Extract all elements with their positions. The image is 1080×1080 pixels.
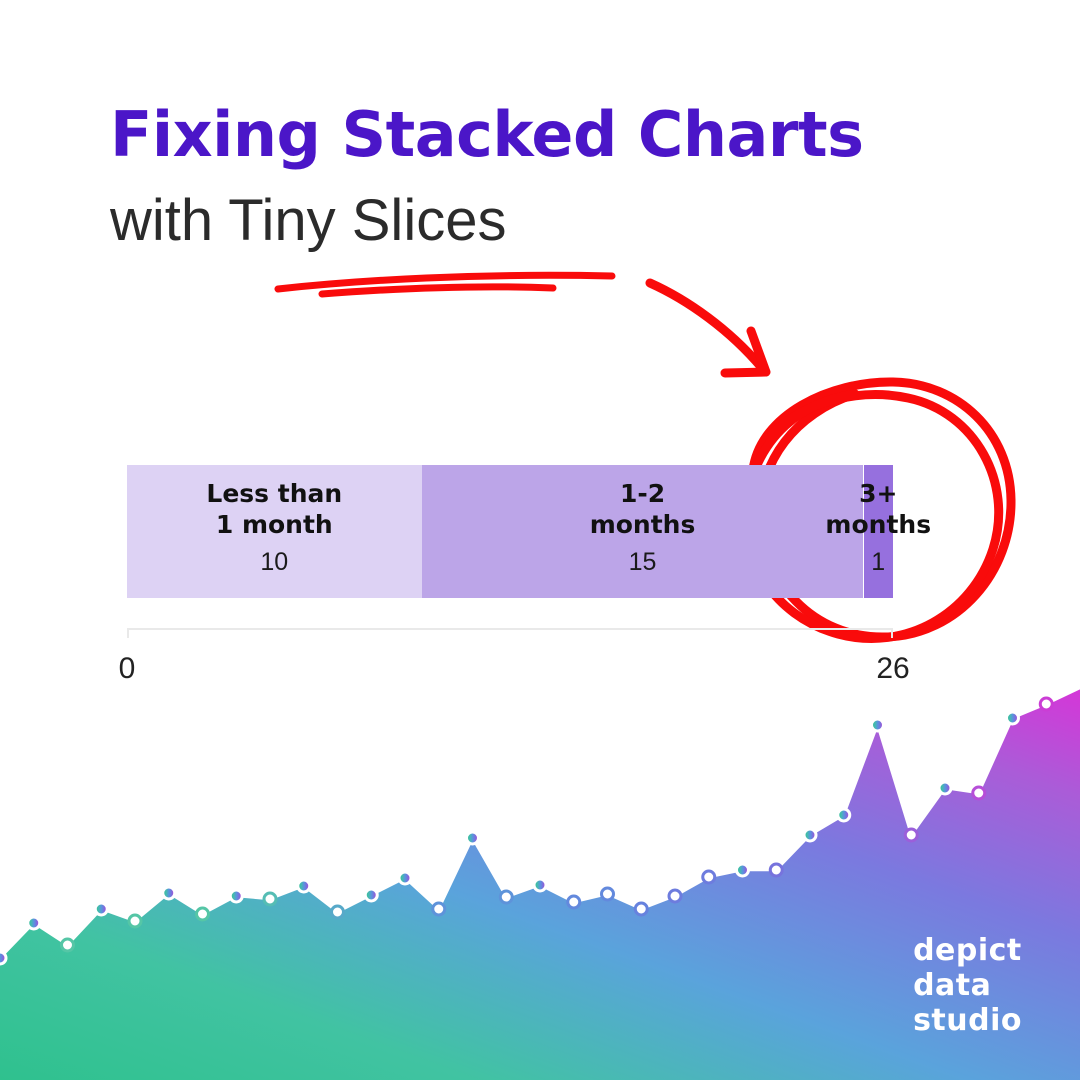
data-point (332, 906, 344, 918)
bar-segment-label-line2: months (825, 510, 931, 541)
bar-segment-1-2-months[interactable]: 1-2 months 15 (422, 465, 864, 598)
data-point (129, 915, 141, 927)
red-underline-stroke-1 (278, 275, 612, 289)
data-point (399, 872, 411, 884)
data-point (804, 829, 816, 841)
bar-segment-value: 1 (825, 546, 931, 579)
data-point (534, 879, 546, 891)
data-point (264, 893, 276, 905)
brand-logo: depict data studio (913, 933, 1022, 1038)
page-title: Fixing Stacked Charts (110, 104, 990, 166)
logo-line-2: data (913, 968, 1022, 1003)
bar-segment-label-group: 1-2 months 15 (590, 479, 696, 579)
data-point (197, 908, 209, 920)
title-block: Fixing Stacked Charts with Tiny Slices (110, 104, 990, 250)
data-point (467, 832, 479, 844)
bar-segment-label-line1: 1-2 (590, 479, 696, 510)
data-point (0, 952, 6, 964)
x-axis-line (127, 628, 893, 638)
data-point (838, 809, 850, 821)
bar-segment-value: 15 (590, 546, 696, 579)
red-arrow-shaft (650, 283, 762, 368)
data-point (230, 890, 242, 902)
bar-segment-label-group: Less than 1 month 10 (206, 479, 342, 579)
page-subtitle: with Tiny Slices (110, 192, 990, 250)
infographic-canvas: Fixing Stacked Charts with Tiny Slices L… (0, 0, 1080, 1080)
data-point (163, 887, 175, 899)
data-point (669, 890, 681, 902)
data-point (770, 864, 782, 876)
data-point (365, 889, 377, 901)
data-point (905, 829, 917, 841)
data-point (737, 864, 749, 876)
data-point (500, 891, 512, 903)
data-point (872, 719, 884, 731)
data-point (298, 880, 310, 892)
bar-segment-label-group: 3+ months 1 (825, 479, 931, 579)
data-point (1040, 698, 1052, 710)
red-underline-stroke-2 (322, 287, 553, 294)
data-point (1007, 712, 1019, 724)
data-point (973, 787, 985, 799)
bar-segment-label-line1: Less than (206, 479, 342, 510)
data-point (939, 782, 951, 794)
data-point (635, 903, 647, 915)
bar-segment-less-than-1-month[interactable]: Less than 1 month 10 (127, 465, 422, 598)
data-point (28, 917, 40, 929)
data-point (433, 903, 445, 915)
logo-line-1: depict (913, 933, 1022, 968)
data-point (62, 939, 74, 951)
data-point (703, 871, 715, 883)
data-point (602, 888, 614, 900)
red-arrow-head (725, 331, 766, 373)
data-point (568, 896, 580, 908)
bar-segment-label-line1: 3+ (825, 479, 931, 510)
data-point (95, 903, 107, 915)
bar-segment-label-line2: months (590, 510, 696, 541)
bar-segment-label-line2: 1 month (206, 510, 342, 541)
bar-segment-value: 10 (206, 546, 342, 579)
bar-segment-3-plus-months[interactable]: 3+ months 1 (864, 465, 894, 598)
stacked-bar-chart: Less than 1 month 10 1-2 months 15 3+ mo… (127, 465, 893, 598)
logo-line-3: studio (913, 1003, 1022, 1038)
